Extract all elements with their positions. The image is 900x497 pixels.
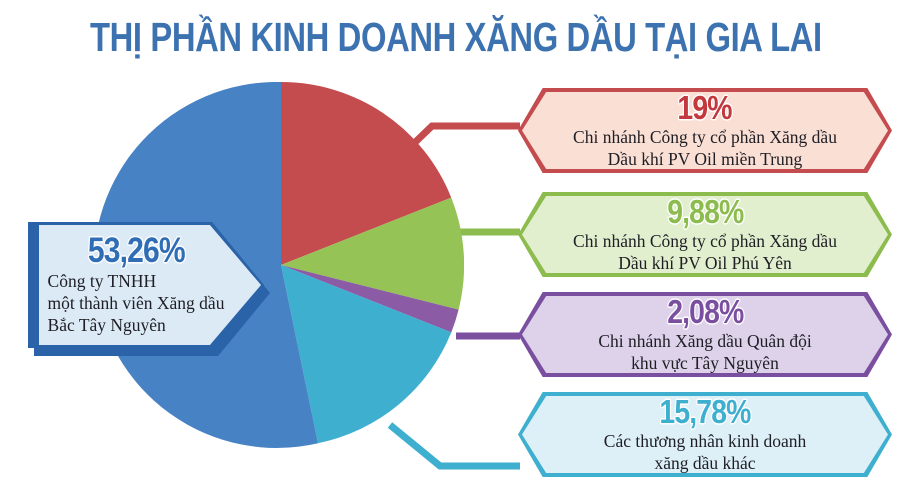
callout-description: Chi nhánh Công ty cổ phần Xăng dầu Dầu k… xyxy=(573,126,837,170)
callout-percent: 19% xyxy=(678,92,732,124)
callout-percent: 15,78% xyxy=(659,396,750,428)
callout-pvoil-phu-yen-body: 9,88% Chi nhánh Công ty cổ phần Xăng dầu… xyxy=(522,196,888,273)
page-title: THỊ PHẦN KINH DOANH XĂNG DẦU TẠI GIA LAI xyxy=(90,14,810,60)
callout-bac-tay-nguyen[interactable]: 53,26% Công ty TNHH một thành viên Xăng … xyxy=(28,222,270,352)
callout-description: Chi nhánh Xăng dầu Quân đội khu vực Tây … xyxy=(598,330,811,374)
callout-description: Công ty TNHH một thành viên Xăng dầu Bắc… xyxy=(48,270,225,336)
callout-percent: 9,88% xyxy=(667,196,743,228)
callout-thuong-nhan-khac-body: 15,78% Các thương nhân kinh doanh xăng d… xyxy=(522,396,888,473)
callout-quan-doi-tay-nguyen-body: 2,08% Chi nhánh Xăng dầu Quân đội khu vự… xyxy=(522,296,888,373)
callout-percent: 53,26% xyxy=(88,234,185,268)
callout-percent: 2,08% xyxy=(667,296,743,328)
infographic-page: THỊ PHẦN KINH DOANH XĂNG DẦU TẠI GIA LAI xyxy=(0,0,900,497)
callout-description: Các thương nhân kinh doanh xăng dầu khác xyxy=(604,430,806,474)
callout-pvoil-mien-trung-body: 19% Chi nhánh Công ty cổ phần Xăng dầu D… xyxy=(522,92,888,169)
callout-description: Chi nhánh Công ty cổ phần Xăng dầu Dầu k… xyxy=(573,230,837,274)
